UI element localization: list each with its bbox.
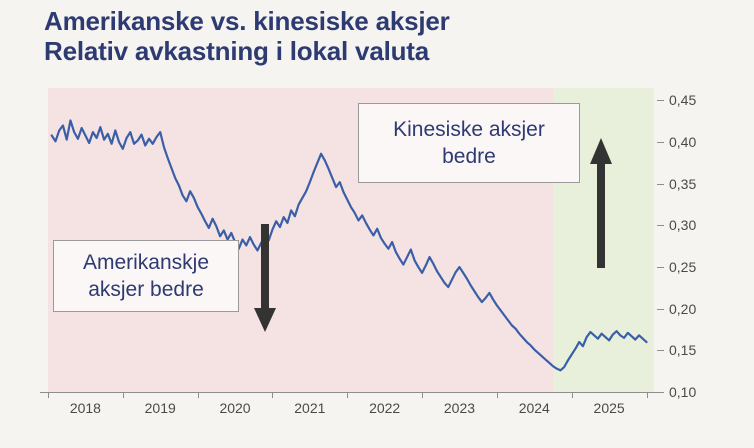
y-tick [657,142,664,143]
annotation-amerikanske-aksjer-bedre: Amerikanskje aksjer bedre [53,240,239,312]
y-tick [657,100,664,101]
y-tick-label: 0,30 [669,218,696,232]
annotation-cn-line2: bedre [393,143,545,170]
x-tick-label: 2022 [350,400,420,416]
y-tick-label: 0,25 [669,260,696,274]
y-tick [657,267,664,268]
x-tick [572,392,573,398]
x-axis-line [40,392,664,393]
chart-subtitle: Relativ avkastning i lokal valuta [44,36,429,66]
x-tick-label: 2024 [499,400,569,416]
chart-title: Amerikanske vs. kinesiske aksjer [44,6,450,36]
x-tick [123,392,124,398]
x-tick-label: 2023 [424,400,494,416]
y-tick-label: 0,10 [669,385,696,399]
annotation-us-line2: aksjer bedre [83,276,209,303]
y-tick-label: 0,40 [669,135,696,149]
annotation-cn-line1: Kinesiske aksjer [393,116,545,143]
x-tick [422,392,423,398]
y-tick [657,225,664,226]
y-tick-label: 0,20 [669,302,696,316]
y-tick-label: 0,15 [669,343,696,357]
y-tick [657,184,664,185]
chart-root: Amerikanske vs. kinesiske aksjer Relativ… [0,0,754,448]
y-tick [657,309,664,310]
x-tick [198,392,199,398]
y-tick-label: 0,35 [669,177,696,191]
x-tick-label: 2020 [200,400,270,416]
y-tick-label: 0,45 [669,93,696,107]
x-tick-label: 2025 [574,400,644,416]
x-tick [48,392,49,398]
x-tick [497,392,498,398]
x-tick [272,392,273,398]
x-tick [647,392,648,398]
x-tick-label: 2018 [50,400,120,416]
y-tick [657,392,664,393]
y-tick [657,350,664,351]
x-tick-label: 2019 [125,400,195,416]
x-tick-label: 2021 [275,400,345,416]
x-tick [347,392,348,398]
annotation-kinesiske-aksjer-bedre: Kinesiske aksjer bedre [358,103,580,183]
up-arrow-icon [586,136,616,268]
annotation-us-line1: Amerikanskje [83,249,209,276]
down-arrow-icon [250,224,280,334]
